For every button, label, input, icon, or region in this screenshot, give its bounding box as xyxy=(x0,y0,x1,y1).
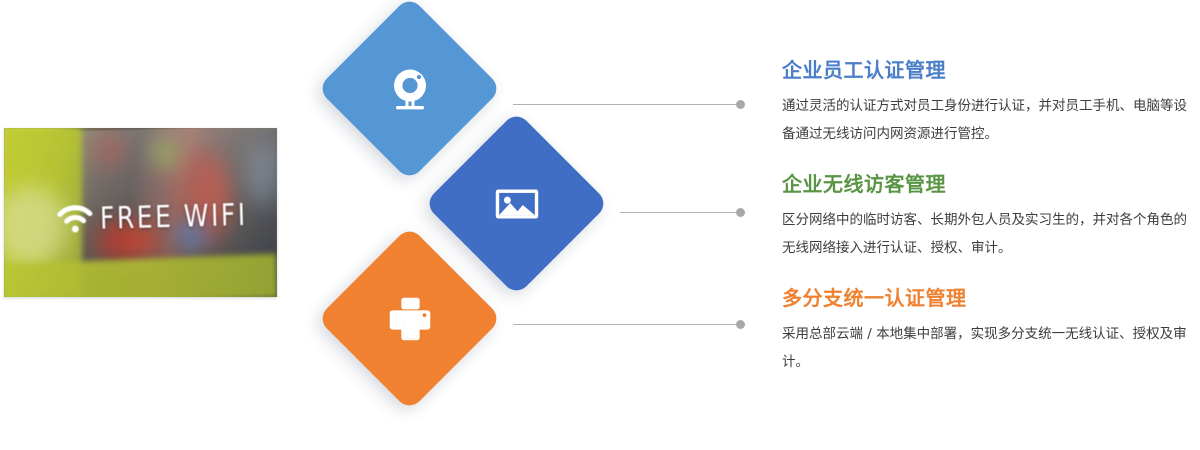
feature-body-1: 通过灵活的认证方式对员工身份进行认证，并对员工手机、电脑等设备通过无线访问内网资… xyxy=(782,92,1200,148)
feature-body-2: 区分网络中的临时访客、长期外包人员及实习生的，并对各个角色的无线网络接入进行认证… xyxy=(782,206,1200,262)
feature-node-2[interactable] xyxy=(424,111,609,296)
feature-text-2: 企业无线访客管理 区分网络中的临时访客、长期外包人员及实习生的，并对各个角色的无… xyxy=(782,172,1200,262)
connector-line-2 xyxy=(620,212,740,213)
connector-dot-1 xyxy=(736,100,745,109)
feature-title-3: 多分支统一认证管理 xyxy=(782,286,1200,310)
connector-line-1 xyxy=(513,104,740,105)
feature-title-2: 企业无线访客管理 xyxy=(782,172,1200,196)
feature-text-1: 企业员工认证管理 通过灵活的认证方式对员工身份进行认证，并对员工手机、电脑等设备… xyxy=(782,58,1200,148)
photo-overlay-text: FREE WIFI xyxy=(100,197,249,236)
free-wifi-photo: FREE WIFI xyxy=(4,128,277,297)
webcam-icon xyxy=(344,23,475,154)
feature-body-3: 采用总部云端 / 本地集中部署，实现多分支统一无线认证、授权及审计。 xyxy=(782,320,1200,376)
connector-dot-2 xyxy=(736,208,745,217)
image-icon xyxy=(451,138,582,269)
connector-line-3 xyxy=(513,324,740,325)
wifi-icon xyxy=(56,202,95,235)
feature-title-1: 企业员工认证管理 xyxy=(782,58,1200,82)
printer-icon xyxy=(344,253,475,384)
feature-infographic: FREE WIFI xyxy=(0,0,1200,418)
connector-dot-3 xyxy=(736,320,745,329)
photo-content: FREE WIFI xyxy=(4,128,277,297)
feature-text-3: 多分支统一认证管理 采用总部云端 / 本地集中部署，实现多分支统一无线认证、授权… xyxy=(782,286,1200,376)
